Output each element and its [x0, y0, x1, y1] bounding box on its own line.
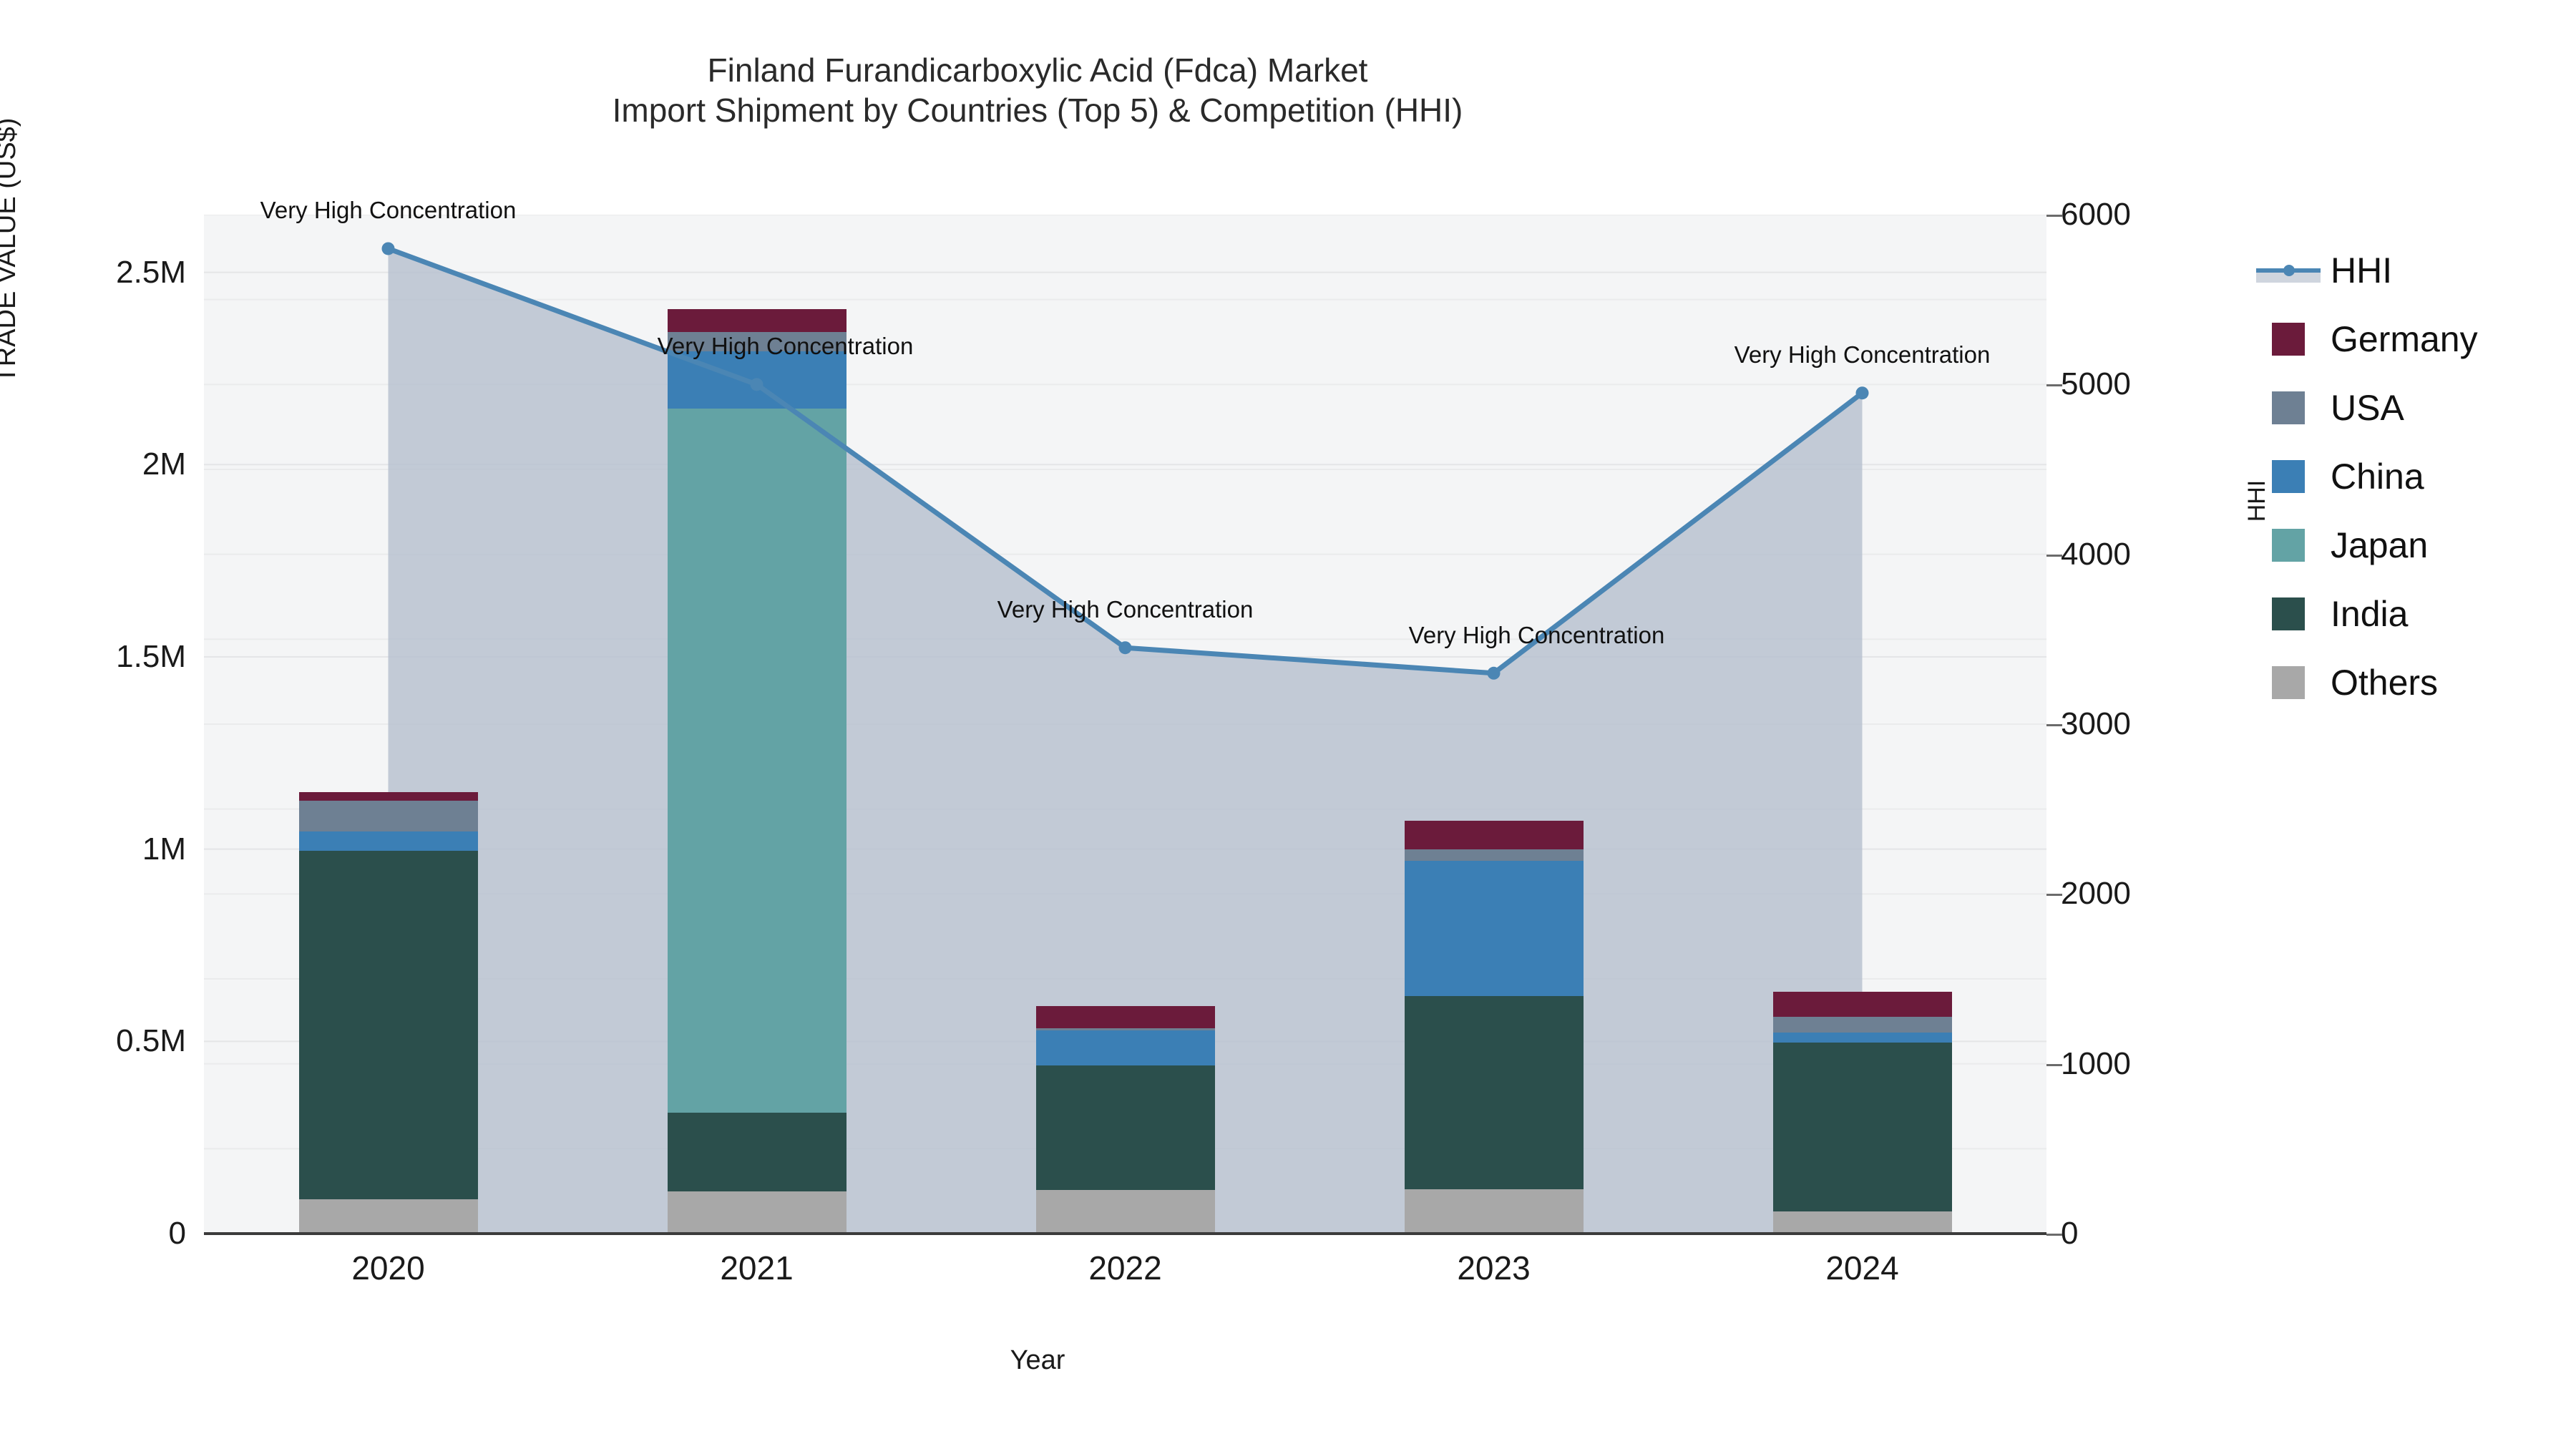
legend-label-others: Others [2331, 665, 2438, 701]
y-axis-right-title: HHI [2243, 358, 2271, 644]
legend-swatch-usa [2272, 391, 2305, 424]
legend-item-others[interactable]: Others [2272, 648, 2572, 717]
chart-title-line-1: Finland Furandicarboxylic Acid (Fdca) Ma… [0, 50, 2075, 90]
y-axis-right-tick-0: 0 [2061, 1216, 2275, 1252]
y-axis-left-tick-2M: 2M [0, 447, 186, 482]
legend-label-india: India [2331, 596, 2408, 632]
legend-label-usa: USA [2331, 390, 2404, 426]
hhi-annotation-2023: Very High Concentration [1409, 622, 1665, 649]
legend-line-icon [2272, 254, 2305, 287]
y-axis-right-tickmark [2046, 555, 2062, 557]
legend-label-germany: Germany [2331, 321, 2478, 357]
x-axis-title: Year [0, 1345, 2075, 1376]
y-axis-right-tick-6000: 6000 [2061, 197, 2275, 233]
chart-canvas: Finland Furandicarboxylic Acid (Fdca) Ma… [0, 0, 2576, 1449]
y-axis-right-tickmark [2046, 1234, 2062, 1236]
x-axis-tick-2020: 2020 [245, 1249, 532, 1287]
x-axis-tick-2024: 2024 [1719, 1249, 2006, 1287]
y-axis-left-tick-1M: 1M [0, 831, 186, 867]
y-axis-right-tickmark [2046, 894, 2062, 896]
y-axis-left-title: TRADE VALUE (US$) [0, 0, 22, 501]
y-axis-right-tick-1000: 1000 [2061, 1046, 2275, 1082]
y-axis-left-tick-2.5M: 2.5M [0, 255, 186, 291]
y-axis-left-tick-1.5M: 1.5M [0, 639, 186, 675]
y-axis-right-tick-3000: 3000 [2061, 706, 2275, 742]
x-axis-tick-2021: 2021 [614, 1249, 900, 1287]
legend-swatch-germany [2272, 323, 2305, 356]
chart-title: Finland Furandicarboxylic Acid (Fdca) Ma… [0, 50, 2075, 130]
y-axis-right-tickmark [2046, 724, 2062, 726]
legend-label-japan: Japan [2331, 527, 2428, 563]
legend-label-hhi: HHI [2331, 253, 2392, 288]
legend-swatch-others [2272, 666, 2305, 699]
hhi-annotation-2020: Very High Concentration [260, 197, 517, 224]
y-axis-left-tick-0.5M: 0.5M [0, 1023, 186, 1059]
legend-swatch-china [2272, 460, 2305, 493]
legend: HHIGermanyUSAChinaJapanIndiaOthers [2272, 236, 2572, 717]
x-axis-tick-2022: 2022 [982, 1249, 1269, 1287]
hhi-annotation-2022: Very High Concentration [997, 596, 1254, 623]
hhi-annotation-2021: Very High Concentration [658, 333, 914, 360]
legend-swatch-india [2272, 597, 2305, 630]
x-axis-line [204, 1232, 2046, 1235]
y-axis-right-tickmark [2046, 1064, 2062, 1066]
hhi-annotation-2024: Very High Concentration [1735, 341, 1991, 369]
legend-swatch-japan [2272, 529, 2305, 562]
legend-item-india[interactable]: India [2272, 580, 2572, 648]
legend-item-japan[interactable]: Japan [2272, 511, 2572, 580]
x-axis-tick-2023: 2023 [1351, 1249, 1637, 1287]
y-axis-right-tick-2000: 2000 [2061, 876, 2275, 912]
plot-area: Very High ConcentrationVery High Concent… [204, 215, 2046, 1234]
y-axis-left-tick-0: 0 [0, 1216, 186, 1252]
legend-item-china[interactable]: China [2272, 442, 2572, 511]
legend-item-usa[interactable]: USA [2272, 374, 2572, 442]
legend-item-hhi[interactable]: HHI [2272, 236, 2572, 305]
legend-item-germany[interactable]: Germany [2272, 305, 2572, 374]
y-axis-right-tickmark [2046, 384, 2062, 386]
chart-title-line-2: Import Shipment by Countries (Top 5) & C… [0, 90, 2075, 130]
legend-label-china: China [2331, 459, 2424, 494]
y-axis-right-tickmark [2046, 215, 2062, 217]
